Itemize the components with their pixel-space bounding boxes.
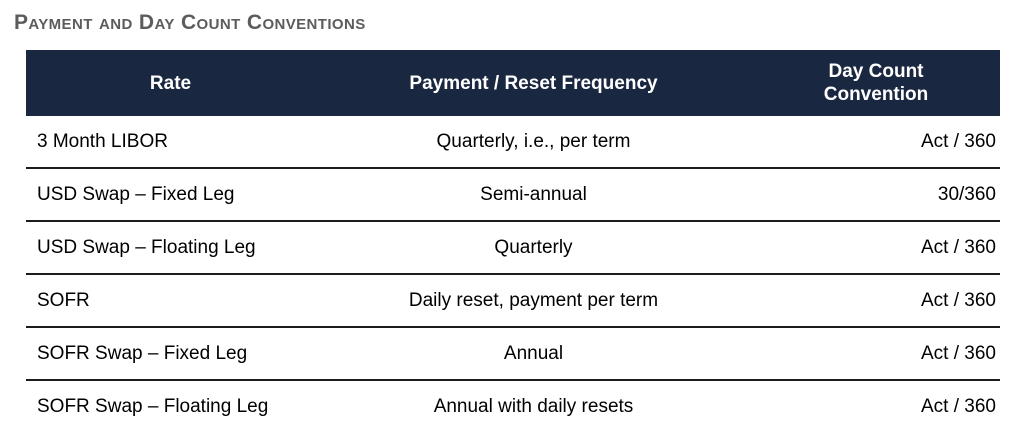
cell-frequency: Annual xyxy=(315,327,752,380)
cell-frequency: Semi-annual xyxy=(315,168,752,221)
page-title: Payment and Day Count Conventions xyxy=(14,9,366,37)
cell-day-count-convention: Act / 360 xyxy=(752,274,1000,327)
cell-frequency: Quarterly, i.e., per term xyxy=(315,116,752,168)
cell-frequency: Daily reset, payment per term xyxy=(315,274,752,327)
column-header-day-count-line1: Day Count xyxy=(752,60,1000,83)
cell-rate: SOFR Swap – Floating Leg xyxy=(26,380,315,432)
table-row: USD Swap – Fixed LegSemi-annual30/360 xyxy=(26,168,1000,221)
cell-frequency: Quarterly xyxy=(315,221,752,274)
cell-day-count-convention: Act / 360 xyxy=(752,380,1000,432)
cell-rate: USD Swap – Fixed Leg xyxy=(26,168,315,221)
table-row: SOFR Swap – Fixed LegAnnualAct / 360 xyxy=(26,327,1000,380)
cell-rate: SOFR xyxy=(26,274,315,327)
cell-day-count-convention: Act / 360 xyxy=(752,327,1000,380)
table-header: Rate Payment / Reset Frequency Day Count… xyxy=(26,50,1000,116)
column-header-day-count-convention: Day Count Convention xyxy=(752,50,1000,116)
table-header-row: Rate Payment / Reset Frequency Day Count… xyxy=(26,50,1000,116)
table-body: 3 Month LIBORQuarterly, i.e., per termAc… xyxy=(26,116,1000,432)
table-row: USD Swap – Floating LegQuarterlyAct / 36… xyxy=(26,221,1000,274)
column-header-frequency: Payment / Reset Frequency xyxy=(315,50,752,116)
table-row: SOFR Swap – Floating LegAnnual with dail… xyxy=(26,380,1000,432)
column-header-day-count-line2: Convention xyxy=(752,83,1000,106)
payment-day-count-conventions-table: Rate Payment / Reset Frequency Day Count… xyxy=(26,50,1000,432)
column-header-rate: Rate xyxy=(26,50,315,116)
cell-rate: 3 Month LIBOR xyxy=(26,116,315,168)
table-row: 3 Month LIBORQuarterly, i.e., per termAc… xyxy=(26,116,1000,168)
conventions-table-container: Rate Payment / Reset Frequency Day Count… xyxy=(26,50,1000,432)
cell-frequency: Annual with daily resets xyxy=(315,380,752,432)
cell-rate: USD Swap – Floating Leg xyxy=(26,221,315,274)
table-row: SOFRDaily reset, payment per termAct / 3… xyxy=(26,274,1000,327)
cell-day-count-convention: Act / 360 xyxy=(752,221,1000,274)
cell-day-count-convention: 30/360 xyxy=(752,168,1000,221)
cell-day-count-convention: Act / 360 xyxy=(752,116,1000,168)
cell-rate: SOFR Swap – Fixed Leg xyxy=(26,327,315,380)
document-page: Payment and Day Count Conventions Rate P… xyxy=(0,0,1024,441)
